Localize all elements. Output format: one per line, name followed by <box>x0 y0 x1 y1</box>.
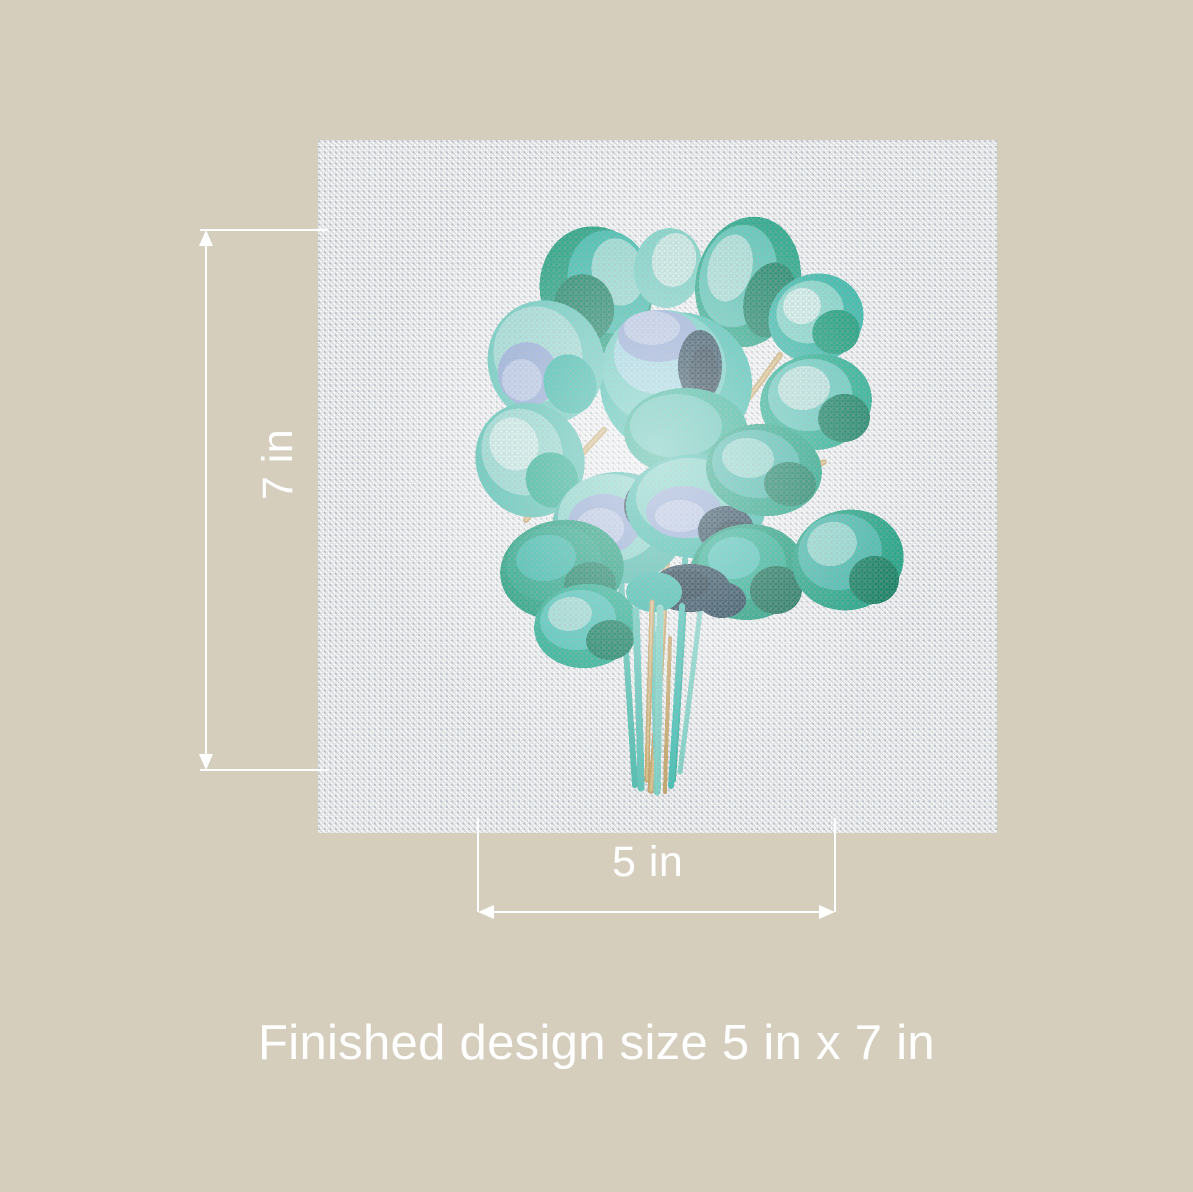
flower-bottom-accent <box>626 564 730 612</box>
leaf-right-upper <box>756 260 876 376</box>
leaf-right-far <box>782 498 915 622</box>
height-dimension-line <box>205 236 207 764</box>
flower-center-lower <box>626 454 766 558</box>
leaf-left-bottom <box>494 512 631 628</box>
width-arrow-right-icon <box>819 905 835 919</box>
leaf-left-upper <box>472 285 621 439</box>
width-extension-right <box>834 818 836 912</box>
finished-size-caption: Finished design size 5 in x 7 in <box>0 1015 1193 1071</box>
leaf-top-center <box>628 223 709 314</box>
stem-bundle-front <box>636 602 682 792</box>
width-extension-left <box>477 818 479 912</box>
height-arrow-top-icon <box>199 230 213 246</box>
height-dimension-label: 7 in <box>254 429 303 500</box>
height-arrow-bottom-icon <box>199 754 213 770</box>
height-extension-top <box>200 229 328 231</box>
flower-center-main <box>600 310 752 476</box>
image-canvas: 7 in 5 in Finished design size 5 in x 7 … <box>0 0 1193 1192</box>
leaf-left-lower <box>457 385 603 535</box>
aida-fabric-panel <box>318 140 997 833</box>
leaf-top-right <box>682 205 815 358</box>
width-dimension-line <box>486 911 828 913</box>
leaf-right-lower-a <box>702 418 827 522</box>
width-dimension-label: 5 in <box>612 838 683 887</box>
leaf-right-mid <box>754 347 878 458</box>
leaf-top-left <box>528 216 664 364</box>
stem-group <box>526 355 874 790</box>
leaf-right-lower-b <box>687 520 809 624</box>
width-arrow-left-icon <box>478 905 494 919</box>
cross-stitch-embroidery <box>318 140 997 833</box>
leaf-bottom-left <box>530 579 642 673</box>
flower-left-lower <box>552 472 684 584</box>
height-extension-bottom <box>200 769 328 771</box>
